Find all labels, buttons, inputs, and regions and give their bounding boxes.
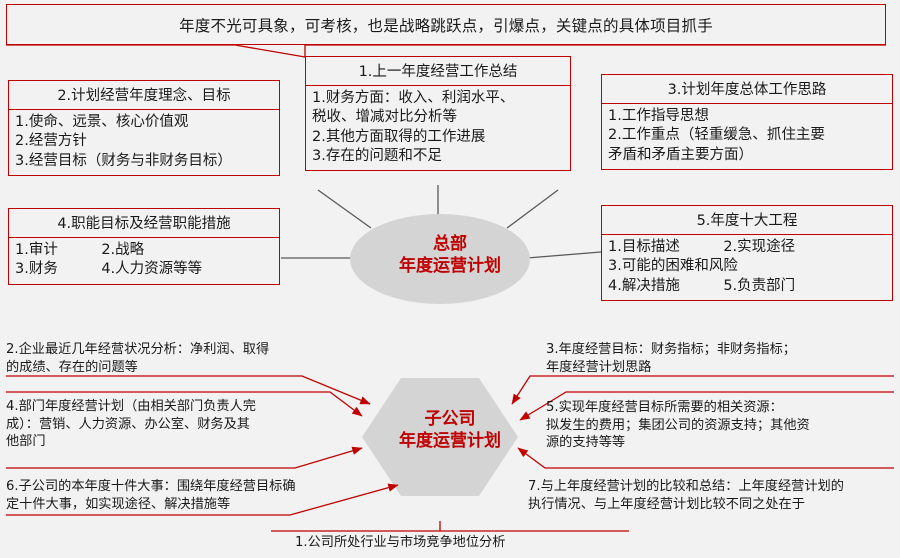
bottom-note-bracket: [271, 521, 629, 531]
card-line: 4.解决措施 5.负责部门: [608, 277, 887, 296]
card-title: 3.计划年度总体工作思路: [602, 75, 892, 104]
note-line: 4.部门年度经营计划（由相关部门负责人完: [6, 398, 256, 416]
card-title: 1.上一年度经营工作总结: [306, 57, 570, 86]
subsidiary-node-label: 子公司 年度运营计划: [390, 409, 510, 453]
note-line: 5.实现年度经营目标所需要的相关资源：: [546, 399, 810, 417]
card-line: 2.工作重点（轻重缓急、抓住主要: [608, 126, 887, 145]
card-ten-major-projects[interactable]: 5.年度十大工程 1.目标描述 2.实现途径 3.可能的困难和风险 4.解决措施…: [601, 205, 893, 301]
subsidiary-node-label-line1: 子公司: [390, 409, 510, 431]
card-body: 1.使命、远景、核心价值观 2.经营方针 3.经营目标（财务与非财务目标）: [9, 110, 279, 175]
note-line: 年度经营计划思路: [546, 359, 796, 377]
hq-node-label-line1: 总部: [390, 234, 510, 256]
card-line: 税收、增减对比分析等: [312, 108, 565, 127]
card-line: 3.财务 4.人力资源等等: [15, 260, 274, 279]
note-line: 2.企业最近几年经营状况分析：净利润、取得: [6, 341, 269, 359]
card-line: 3.可能的困难和风险: [608, 257, 887, 276]
note-department-annual-plan: 4.部门年度经营计划（由相关部门负责人完 成）：营销、人力资源、办公室、财务及其…: [6, 398, 256, 451]
card-body: 1.工作指导思想 2.工作重点（轻重缓急、抓住主要 矛盾和矛盾主要方面）: [602, 104, 892, 169]
note-line: 7.与上年度经营计划的比较和总结：上年度经营计划的: [528, 478, 844, 496]
subsidiary-node-shape[interactable]: [362, 378, 518, 496]
card-title: 5.年度十大工程: [602, 206, 892, 235]
note-line: 源的支持等等: [546, 434, 810, 452]
note-line: 成）：营销、人力资源、办公室、财务及其: [6, 416, 256, 434]
card-line: 1.审计 2.战略: [15, 241, 274, 260]
card-annual-concept-goals[interactable]: 2.计划经营年度理念、目标 1.使命、远景、核心价值观 2.经营方针 3.经营目…: [8, 80, 280, 176]
diagram-canvas: 年度不光可具象，可考核，也是战略跳跃点，引爆点，关键点的具体项目抓手 1.上一年…: [0, 0, 900, 558]
note-required-resources: 5.实现年度经营目标所需要的相关资源： 拟发生的费用；集团公司的资源支持；其他资…: [546, 399, 810, 452]
note-line: 6.子公司的本年度十件大事：围绕年度经营目标确: [6, 478, 296, 496]
card-title: 4.职能目标及经营职能措施: [9, 209, 279, 238]
header-banner-text: 年度不光可具象，可考核，也是战略跳跃点，引爆点，关键点的具体项目抓手: [179, 14, 713, 36]
hq-node-label: 总部 年度运营计划: [390, 234, 510, 278]
card-line: 1.使命、远景、核心价值观: [15, 113, 274, 132]
hq-node-label-line2: 年度运营计划: [390, 256, 510, 278]
note-annual-business-goals: 3.年度经营目标：财务指标；非财务指标； 年度经营计划思路: [546, 341, 796, 376]
note-industry-market-position: 1.公司所处行业与市场竞争地位分析: [295, 534, 505, 552]
card-line: 1.工作指导思想: [608, 107, 887, 126]
card-body: 1.目标描述 2.实现途径 3.可能的困难和风险 4.解决措施 5.负责部门: [602, 235, 892, 300]
card-previous-year-summary[interactable]: 1.上一年度经营工作总结 1.财务方面：收入、利润水平、 税收、增减对比分析等 …: [305, 56, 571, 171]
card-title: 2.计划经营年度理念、目标: [9, 81, 279, 110]
note-comparison-with-last-year: 7.与上年度经营计划的比较和总结：上年度经营计划的 执行情况、与上年度经营计划比…: [528, 478, 844, 513]
header-banner: 年度不光可具象，可考核，也是战略跳跃点，引爆点，关键点的具体项目抓手: [6, 4, 886, 45]
note-line: 执行情况、与上年度经营计划比较不同之处在于: [528, 496, 844, 514]
note-ten-major-events: 6.子公司的本年度十件大事：围绕年度经营目标确 定十件大事，如实现途径、解决措施…: [6, 478, 296, 513]
note-line: 拟发生的费用；集团公司的资源支持；其他资: [546, 417, 810, 435]
card-body: 1.财务方面：收入、利润水平、 税收、增减对比分析等 2.其他方面取得的工作进展…: [306, 86, 570, 170]
note-line: 1.公司所处行业与市场竞争地位分析: [295, 534, 505, 552]
card-line: 3.存在的问题和不足: [312, 147, 565, 166]
card-overall-work-approach[interactable]: 3.计划年度总体工作思路 1.工作指导思想 2.工作重点（轻重缓急、抓住主要 矛…: [601, 74, 893, 170]
note-business-status-analysis: 2.企业最近几年经营状况分析：净利润、取得 的成绩、存在的问题等: [6, 341, 269, 376]
note-line: 的成绩、存在的问题等: [6, 359, 269, 377]
hq-node-shape[interactable]: [350, 214, 530, 304]
card-line: 3.经营目标（财务与非财务目标）: [15, 152, 274, 171]
card-line: 1.目标描述 2.实现途径: [608, 238, 887, 257]
note-line: 3.年度经营目标：财务指标；非财务指标；: [546, 341, 796, 359]
card-line: 2.其他方面取得的工作进展: [312, 128, 565, 147]
card-line: 矛盾和矛盾主要方面）: [608, 146, 887, 165]
card-line: 1.财务方面：收入、利润水平、: [312, 89, 565, 108]
subsidiary-node-label-line2: 年度运营计划: [390, 431, 510, 453]
note-line: 他部门: [6, 433, 256, 451]
card-line: 2.经营方针: [15, 132, 274, 151]
hq-connectors: [281, 185, 601, 258]
card-body: 1.审计 2.战略 3.财务 4.人力资源等等: [9, 238, 279, 284]
note-line: 定十件大事，如实现途径、解决措施等: [6, 496, 296, 514]
card-functional-goals-measures[interactable]: 4.职能目标及经营职能措施 1.审计 2.战略 3.财务 4.人力资源等等: [8, 208, 280, 285]
